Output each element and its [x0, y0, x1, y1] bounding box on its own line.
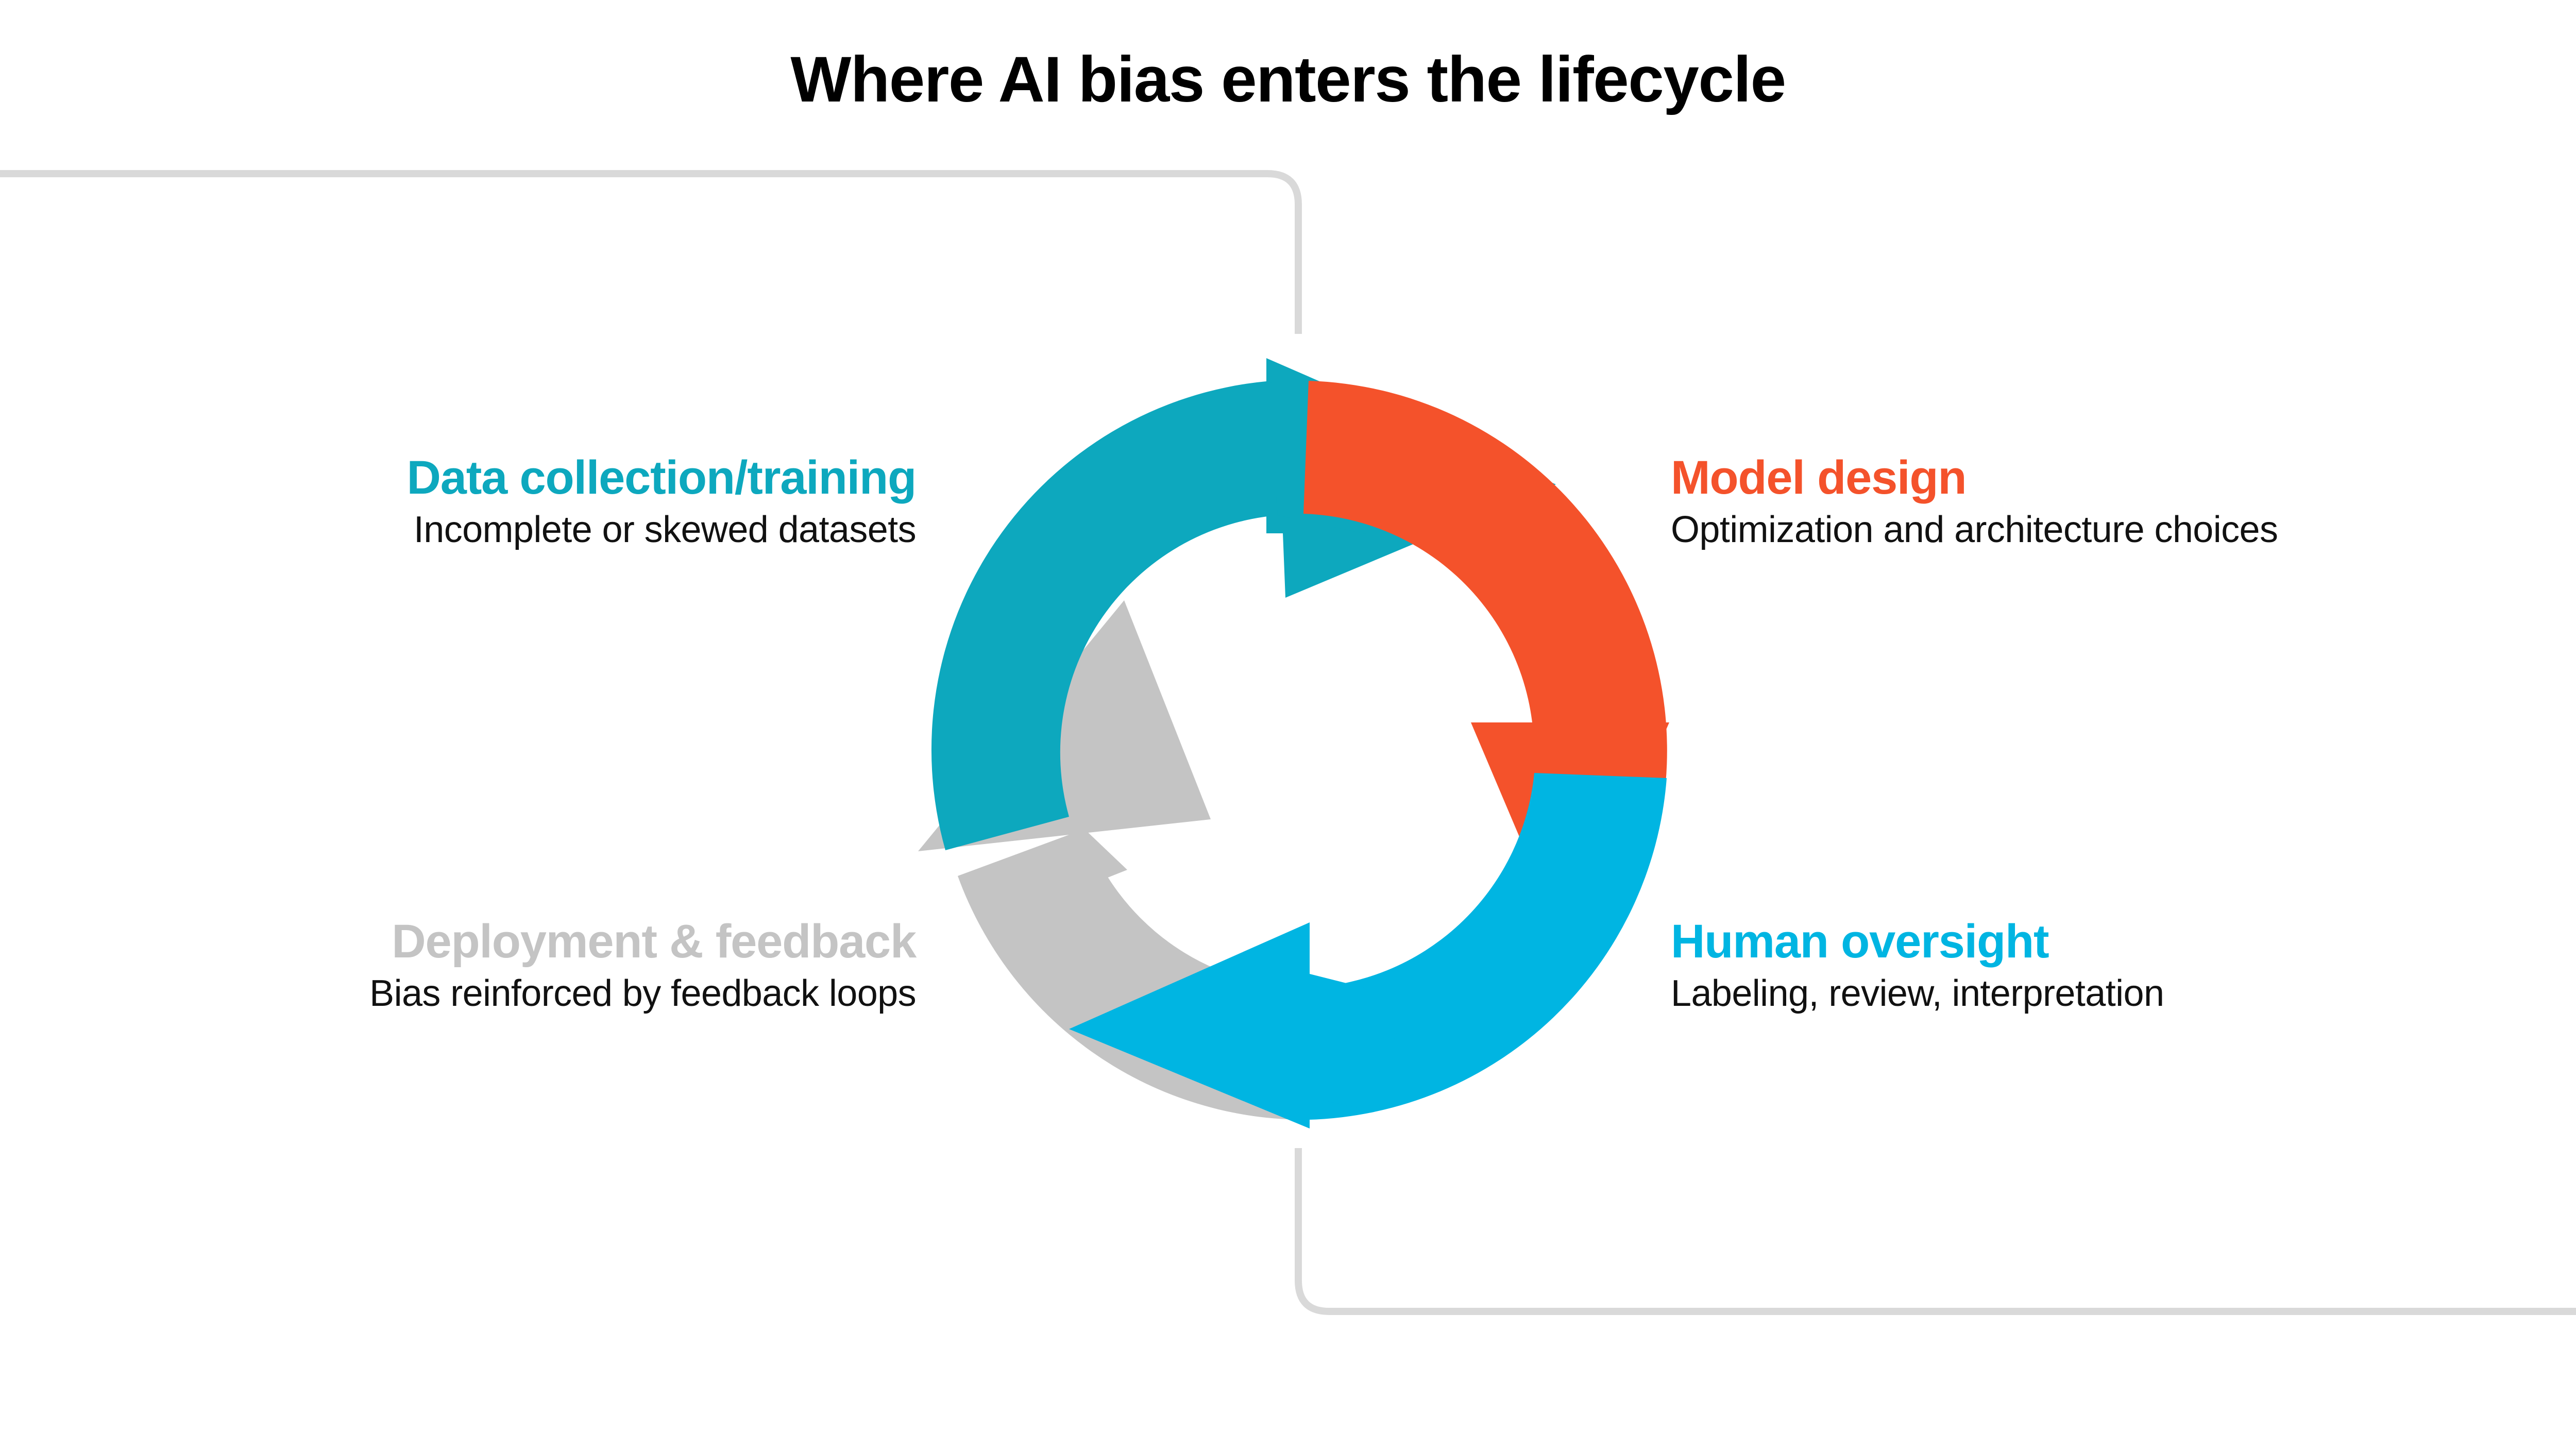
page-title: Where AI bias enters the lifecycle	[0, 47, 2576, 112]
stage-label-deployment-feedback[interactable]: Deployment & feedback Bias reinforced by…	[369, 917, 916, 1013]
stage-title-human-oversight: Human oversight	[1671, 917, 2164, 966]
stage-label-data-collection-training[interactable]: Data collection/training Incomplete or s…	[407, 453, 916, 549]
lifecycle-cycle-diagram	[896, 330, 1731, 1165]
stage-description-human-oversight: Labeling, review, interpretation	[1671, 974, 2164, 1014]
stage-title-data-collection-training: Data collection/training	[407, 453, 916, 502]
stage-label-model-design[interactable]: Model design Optimization and architectu…	[1671, 453, 2278, 549]
stage-description-data-collection-training: Incomplete or skewed datasets	[407, 511, 916, 550]
stage-description-deployment-feedback: Bias reinforced by feedback loops	[369, 974, 916, 1014]
stage-title-model-design: Model design	[1671, 453, 2278, 502]
stage-title-deployment-feedback: Deployment & feedback	[369, 917, 916, 966]
stage-label-human-oversight[interactable]: Human oversight Labeling, review, interp…	[1671, 917, 2164, 1013]
connector-bottom-line	[1298, 1148, 2576, 1311]
stage-description-model-design: Optimization and architecture choices	[1671, 511, 2278, 550]
connector-top-line	[0, 174, 1298, 334]
